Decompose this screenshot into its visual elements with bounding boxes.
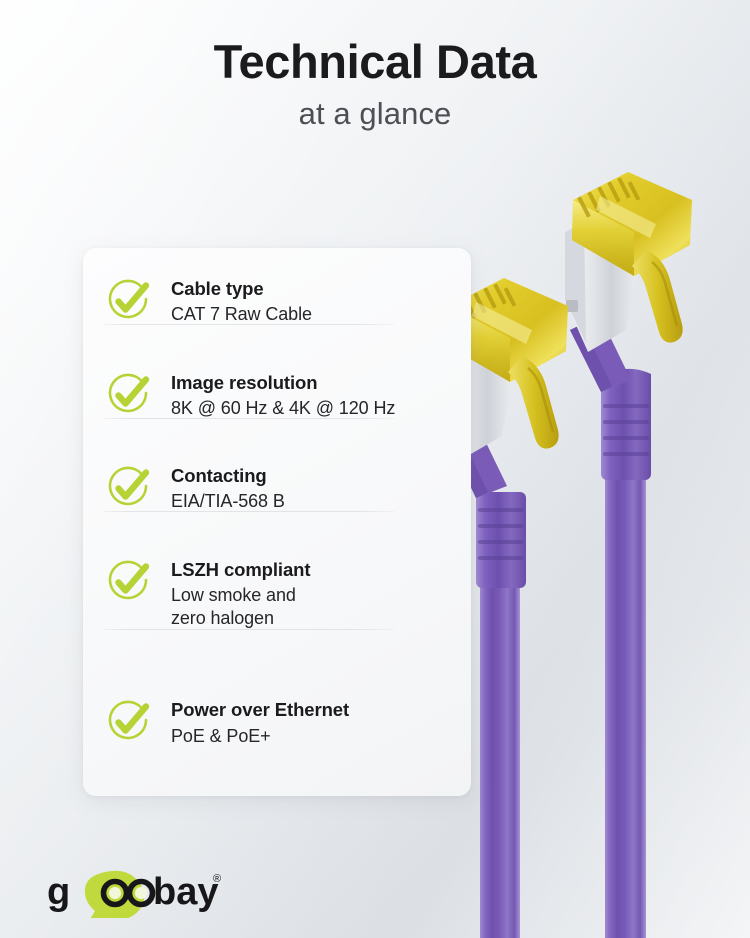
spec-label: Cable type bbox=[171, 277, 312, 300]
spec-value: CAT 7 Raw Cable bbox=[171, 303, 312, 326]
spec-value: 8K @ 60 Hz & 4K @ 120 Hz bbox=[171, 397, 395, 420]
infographic-canvas: Technical Data at a glance Cable type CA… bbox=[0, 0, 750, 938]
page-subtitle: at a glance bbox=[0, 96, 750, 132]
check-circle-icon bbox=[105, 699, 151, 745]
spec-label: LSZH compliant bbox=[171, 558, 310, 581]
spec-value: Low smoke and zero halogen bbox=[171, 584, 310, 631]
spec-text: Contacting EIA/TIA-568 B bbox=[171, 463, 285, 514]
spec-text: LSZH compliant Low smoke and zero haloge… bbox=[171, 557, 310, 631]
spec-value: PoE & PoE+ bbox=[171, 725, 349, 748]
spec-divider bbox=[103, 511, 395, 512]
spec-row-image-resolution: Image resolution 8K @ 60 Hz & 4K @ 120 H… bbox=[83, 327, 471, 421]
page-title: Technical Data bbox=[0, 36, 750, 89]
check-circle-icon bbox=[105, 559, 151, 605]
spec-text: Power over Ethernet PoE & PoE+ bbox=[171, 697, 349, 748]
logo-text-bay: bay bbox=[153, 871, 218, 913]
spec-divider bbox=[103, 629, 395, 630]
spec-label: Image resolution bbox=[171, 371, 395, 394]
spec-row-cable-type: Cable type CAT 7 Raw Cable bbox=[83, 248, 471, 327]
spec-value: EIA/TIA-568 B bbox=[171, 490, 285, 513]
spec-row-contacting: Contacting EIA/TIA-568 B bbox=[83, 420, 471, 514]
check-circle-icon bbox=[105, 372, 151, 418]
check-circle-icon bbox=[105, 465, 151, 511]
header: Technical Data at a glance bbox=[0, 36, 750, 131]
logo-trademark-symbol: ® bbox=[213, 873, 221, 885]
spec-row-power-over-ethernet: Power over Ethernet PoE & PoE+ bbox=[83, 630, 471, 748]
logo-text-g: g bbox=[47, 871, 70, 913]
cable-back bbox=[565, 172, 692, 938]
check-circle-icon bbox=[105, 278, 151, 324]
spec-text: Cable type CAT 7 Raw Cable bbox=[171, 276, 312, 327]
spec-label: Power over Ethernet bbox=[171, 698, 349, 721]
spec-label: Contacting bbox=[171, 464, 285, 487]
spec-divider bbox=[103, 324, 395, 325]
goobay-logo: g bay ® bbox=[45, 866, 225, 918]
spec-divider bbox=[103, 418, 395, 419]
spec-text: Image resolution 8K @ 60 Hz & 4K @ 120 H… bbox=[171, 370, 395, 421]
spec-list-card: Cable type CAT 7 Raw Cable Image resolut… bbox=[83, 248, 471, 796]
spec-row-lszh-compliant: LSZH compliant Low smoke and zero haloge… bbox=[83, 514, 471, 631]
